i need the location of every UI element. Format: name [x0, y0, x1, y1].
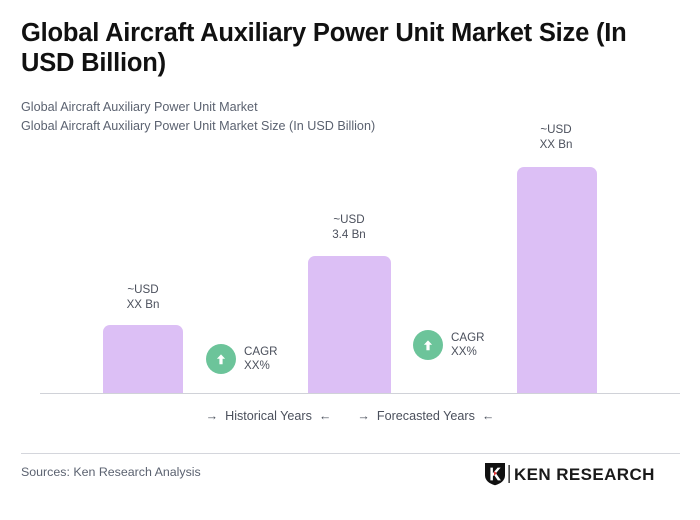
arrow-up-icon	[206, 344, 236, 374]
cagr-marker-2-text: CAGR XX%	[451, 331, 485, 359]
ken-research-logo: KEN RESEARCH	[484, 462, 655, 486]
bar-value-label-3-line1: ~USD	[516, 123, 596, 138]
bar-forecasted[interactable]	[517, 167, 597, 394]
cagr-marker-2-value: XX%	[451, 345, 485, 359]
bar-value-label-1: ~USD XX Bn	[103, 283, 183, 312]
legend-forecasted-years-label: Forecasted Years	[377, 409, 475, 423]
logo-divider-icon	[506, 463, 512, 485]
legend-forecasted-years: → Forecasted Years ←	[357, 409, 494, 423]
cagr-marker-1-value: XX%	[244, 359, 278, 373]
bar-value-label-1-line2: XX Bn	[103, 298, 183, 313]
ken-research-shield-icon	[484, 462, 506, 486]
cagr-marker-1-label: CAGR	[244, 345, 278, 359]
cagr-marker-1: CAGR XX%	[206, 344, 278, 374]
period-legend: → Historical Years ← → Forecasted Years …	[0, 409, 700, 423]
cagr-marker-2-label: CAGR	[451, 331, 485, 345]
footer-divider	[21, 453, 680, 454]
arrow-left-icon: ←	[319, 410, 332, 423]
bar-value-label-3-line2: XX Bn	[516, 138, 596, 153]
arrow-left-icon: ←	[482, 410, 495, 423]
arrow-right-icon: →	[357, 410, 370, 423]
bar-value-label-3: ~USD XX Bn	[516, 123, 596, 152]
bar-historical[interactable]	[103, 325, 183, 394]
legend-historical-years: → Historical Years ←	[206, 409, 332, 423]
chart-card: Global Aircraft Auxiliary Power Unit Mar…	[0, 0, 700, 520]
x-axis-baseline	[40, 393, 680, 394]
cagr-marker-1-text: CAGR XX%	[244, 345, 278, 373]
cagr-marker-2: CAGR XX%	[413, 330, 485, 360]
bar-value-label-2-line2: 3.4 Bn	[309, 228, 389, 243]
legend-historical-years-label: Historical Years	[225, 409, 312, 423]
bar-current[interactable]	[308, 256, 391, 394]
arrow-up-icon	[413, 330, 443, 360]
bar-value-label-1-line1: ~USD	[103, 283, 183, 298]
bar-chart-plot-area: ~USD XX Bn CAGR XX% ~USD 3.4 Bn	[0, 0, 700, 400]
bar-value-label-2-line1: ~USD	[309, 213, 389, 228]
bar-value-label-2: ~USD 3.4 Bn	[309, 213, 389, 242]
ken-research-wordmark: KEN RESEARCH	[514, 466, 655, 483]
sources-text: Sources: Ken Research Analysis	[21, 465, 201, 479]
arrow-right-icon: →	[206, 410, 219, 423]
